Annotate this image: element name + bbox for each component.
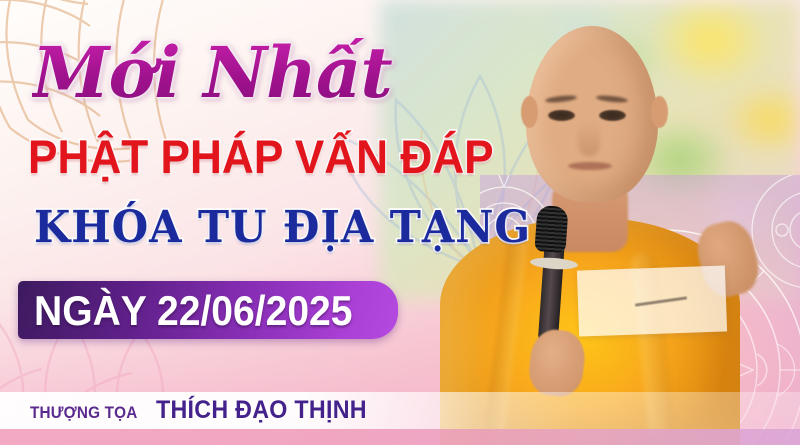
- bottom-color-strip: [0, 429, 800, 445]
- monk-nose: [578, 122, 600, 156]
- headline-secondary: KHÓA TU ĐỊA TẠNG: [34, 206, 531, 250]
- monk-head: [526, 26, 658, 202]
- microphone-icon: [534, 205, 568, 253]
- poster-canvas: Mới Nhất PHẬT PHÁP VẤN ĐÁP KHÓA TU ĐỊA T…: [0, 0, 800, 445]
- date-label: NGÀY 22/06/2025: [34, 290, 352, 332]
- headline-script: Mới Nhất: [32, 38, 392, 108]
- speaker-title: THƯỢNG TỌA: [30, 404, 137, 421]
- monk-eye-right: [599, 110, 626, 121]
- monk-ear-left: [521, 96, 538, 128]
- speaker-name: THÍCH ĐẠO THỊNH: [156, 398, 367, 423]
- monk-eye-left: [548, 110, 575, 121]
- headline-primary: PHẬT PHÁP VẤN ĐÁP: [28, 133, 494, 180]
- monk-mouth: [568, 162, 612, 170]
- monk-ear-right: [651, 96, 668, 128]
- speaker-credit: THƯỢNG TỌATHÍCH ĐẠO THỊNH: [30, 398, 383, 423]
